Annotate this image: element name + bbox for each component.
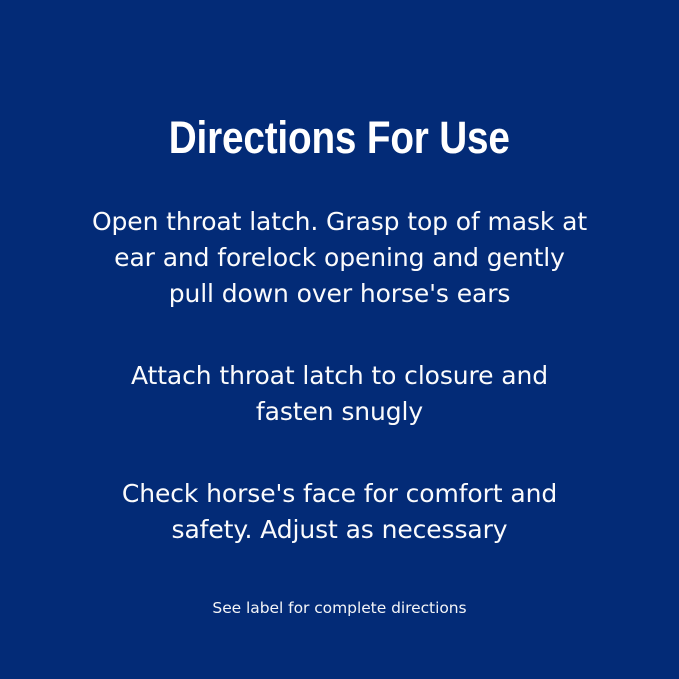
instruction-step-1: Open throat latch. Grasp top of mask at … <box>90 204 590 312</box>
instruction-step-2: Attach throat latch to closure and faste… <box>90 358 590 430</box>
footer-note: See label for complete directions <box>212 598 466 618</box>
directions-panel: Directions For Use Open throat latch. Gr… <box>0 0 679 679</box>
instruction-step-3: Check horse's face for comfort and safet… <box>90 476 590 548</box>
page-title: Directions For Use <box>169 115 510 160</box>
